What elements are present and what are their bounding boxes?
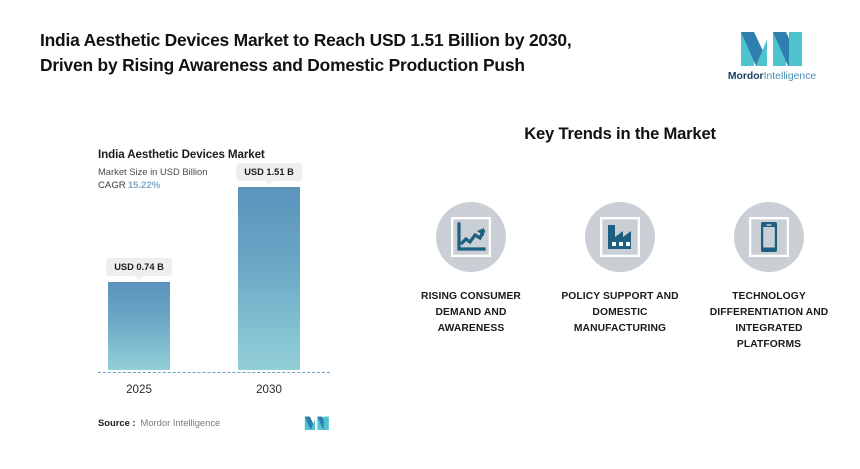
key-trends-panel: Key Trends in the Market RISING CONSUMER…: [404, 124, 836, 353]
brand-logo-text: MordorIntelligence: [728, 71, 816, 82]
chart-source: Source : Mordor Intelligence: [98, 415, 330, 430]
factory-icon: [600, 217, 640, 257]
chart-subtitle: Market Size in USD Billion: [98, 166, 348, 177]
x-axis-tick-2030: 2030: [256, 383, 282, 396]
bar-value-label-2030: USD 1.51 B: [236, 163, 302, 181]
bar-value-label-2025: USD 0.74 B: [106, 258, 172, 276]
reference-dashed-line: [98, 372, 330, 373]
trend-icon-circle: [585, 202, 655, 272]
chart-plot-area: USD 0.74 B USD 1.51 B 2025 2030 Source :…: [98, 203, 348, 418]
trend-icon-circle: [436, 202, 506, 272]
x-axis-tick-2025: 2025: [126, 383, 152, 396]
brand-name-bold: Mordor: [728, 71, 764, 82]
chart-cagr: CAGR15.22%: [98, 180, 348, 191]
trend-icon-circle: [734, 202, 804, 272]
cagr-value: 15.22%: [128, 180, 161, 191]
trend-item-consumer-demand[interactable]: RISING CONSUMER DEMAND AND AWARENESS: [404, 202, 538, 337]
source-value: Mordor Intelligence: [141, 417, 221, 428]
bar-2030[interactable]: [238, 187, 300, 370]
trend-label: RISING CONSUMER DEMAND AND AWARENESS: [404, 289, 538, 337]
page-title-line-1: India Aesthetic Devices Market to Reach …: [40, 28, 571, 53]
infographic-page: India Aesthetic Devices Market to Reach …: [0, 0, 860, 469]
brand-name-light: Intelligence: [764, 71, 817, 82]
mordor-logo-icon: [739, 28, 805, 66]
key-trends-title: Key Trends in the Market: [404, 124, 836, 144]
bar-2025[interactable]: [108, 282, 170, 370]
chart-title: India Aesthetic Devices Market: [98, 148, 348, 161]
source-label: Source :: [98, 417, 136, 428]
trend-item-policy-support[interactable]: POLICY SUPPORT AND DOMESTIC MANUFACTURIN…: [553, 202, 687, 337]
page-header: India Aesthetic Devices Market to Reach …: [0, 0, 860, 100]
market-size-chart: India Aesthetic Devices Market Market Si…: [98, 148, 348, 458]
trend-item-technology[interactable]: TECHNOLOGY DIFFERENTIATION AND INTEGRATE…: [702, 202, 836, 353]
growth-chart-icon: [451, 217, 491, 257]
page-title: India Aesthetic Devices Market to Reach …: [40, 28, 571, 77]
trend-label: POLICY SUPPORT AND DOMESTIC MANUFACTURIN…: [553, 289, 687, 337]
page-title-line-2: Driven by Rising Awareness and Domestic …: [40, 53, 571, 78]
cagr-label: CAGR: [98, 180, 126, 191]
trend-label: TECHNOLOGY DIFFERENTIATION AND INTEGRATE…: [702, 289, 836, 353]
source-mordor-logo-icon: [304, 415, 330, 430]
brand-logo: MordorIntelligence: [720, 28, 824, 82]
smartphone-icon: [749, 217, 789, 257]
key-trends-list: RISING CONSUMER DEMAND AND AWARENESS POL…: [404, 202, 836, 353]
